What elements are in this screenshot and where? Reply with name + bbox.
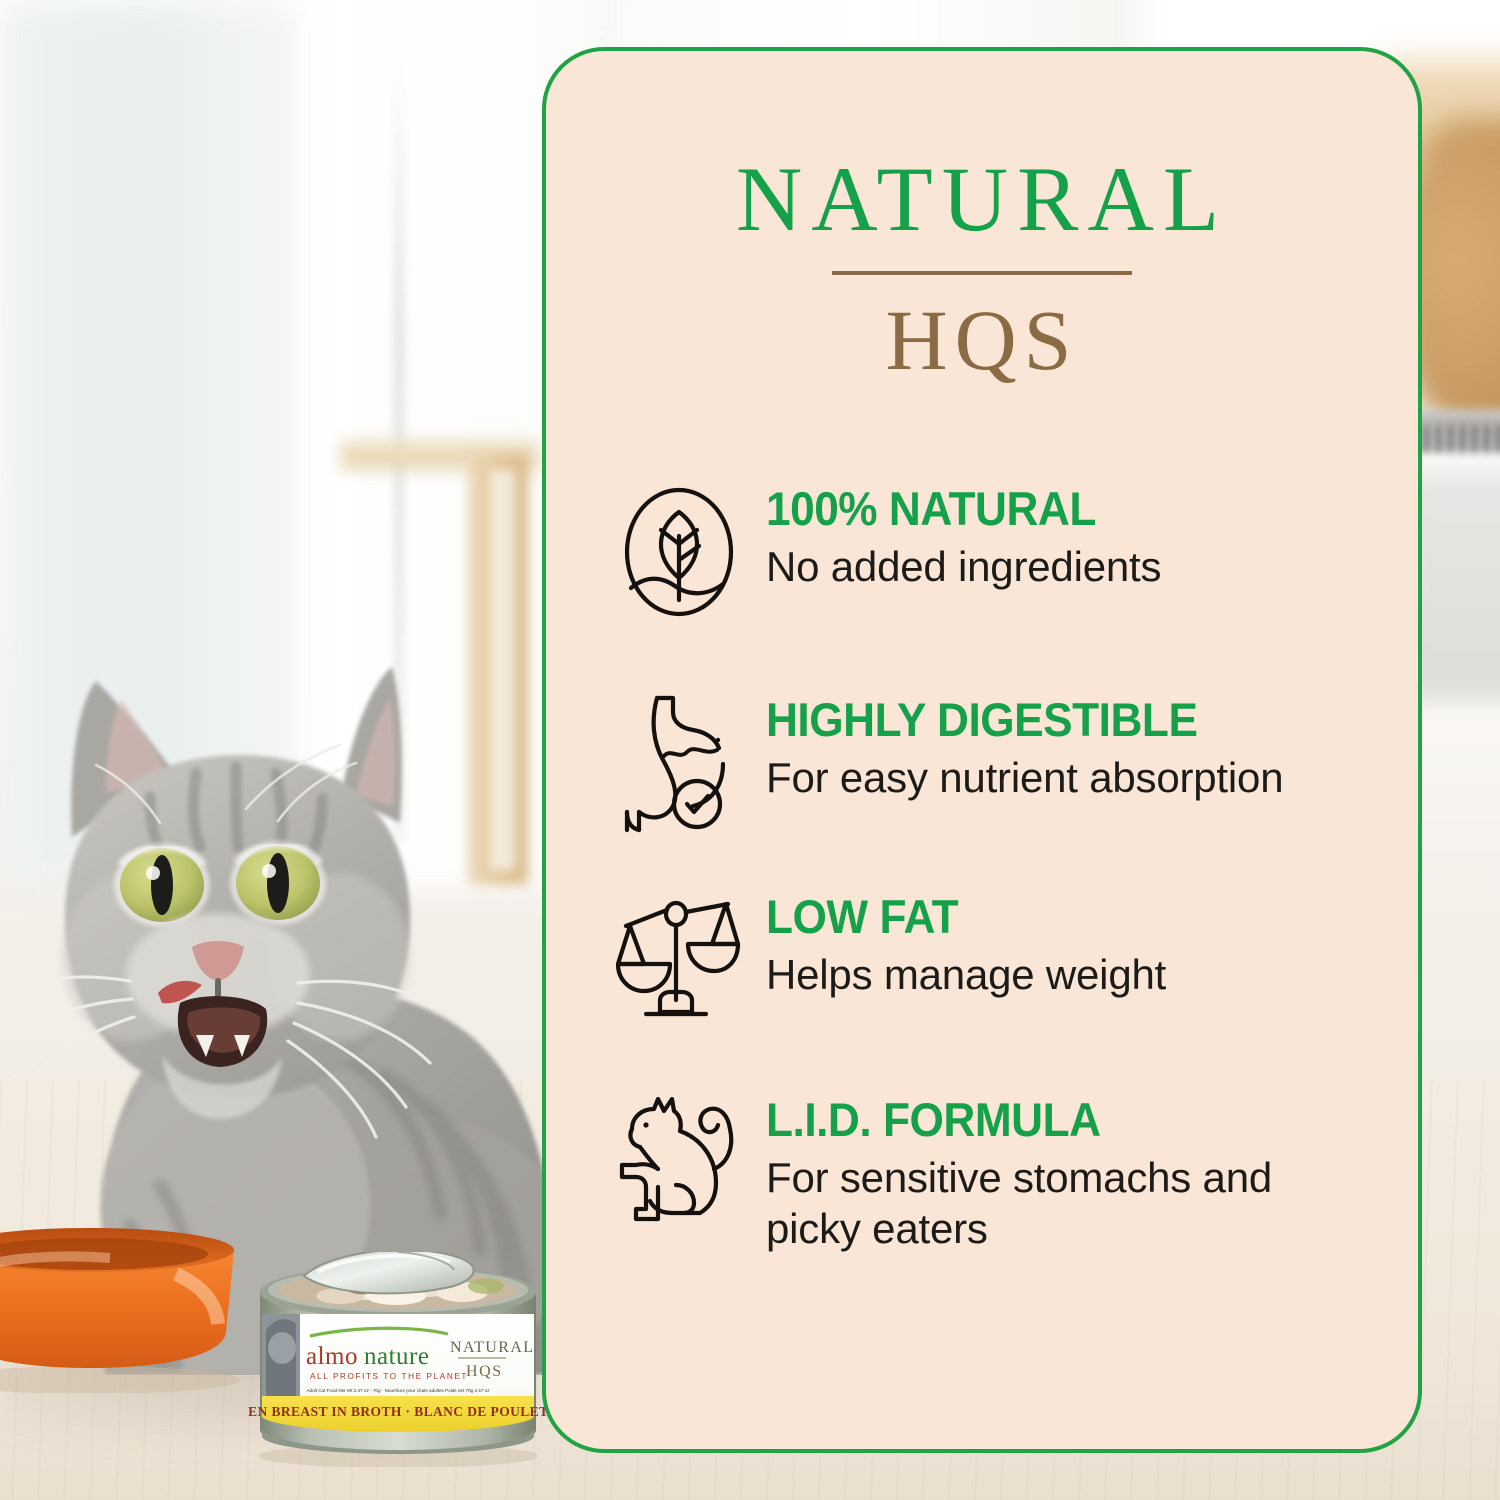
feature-item-digestible: HIGHLY DIGESTIBLE For easy nutrient abso… [546,690,1418,835]
feature-list: 100% NATURAL No added ingredients [546,479,1418,1254]
svg-text:NATURAL: NATURAL [450,1339,534,1356]
leaf-in-circle-icon [604,479,754,624]
svg-text:CHICKEN BREAST IN BROTH · BLAN: CHICKEN BREAST IN BROTH · BLANC DE POULE… [248,1404,548,1419]
feature-item-lowfat: LOW FAT Helps manage weight [546,887,1418,1032]
feature-title: LOW FAT [766,893,1334,941]
feature-text: 100% NATURAL No added ingredients [754,479,1370,592]
product-infographic: almo nature ALL PROFITS TO THE PLANET NA… [0,0,1500,1500]
brand-natural-title: NATURAL [546,153,1418,245]
info-card: NATURAL HQS [542,47,1422,1453]
feature-title: L.I.D. FORMULA [766,1096,1334,1144]
svg-text:ALL PROFITS TO THE PLANET: ALL PROFITS TO THE PLANET [310,1372,468,1381]
feature-title: 100% NATURAL [766,485,1334,533]
svg-text:HQS: HQS [466,1363,503,1380]
feature-text: L.I.D. FORMULA For sensitive stomachs an… [754,1090,1370,1254]
svg-text:almo: almo [306,1343,358,1370]
brand-hqs-title: HQS [546,297,1418,383]
feature-item-lid-formula: L.I.D. FORMULA For sensitive stomachs an… [546,1090,1418,1254]
svg-text:nature: nature [364,1343,429,1370]
brand-block: NATURAL HQS [546,51,1418,383]
cat-food-can: almo nature ALL PROFITS TO THE PLANET NA… [248,1252,548,1467]
feature-subtitle: For easy nutrient absorption [766,752,1370,803]
feature-text: HIGHLY DIGESTIBLE For easy nutrient abso… [754,690,1370,803]
feature-title: HIGHLY DIGESTIBLE [766,696,1334,744]
feature-text: LOW FAT Helps manage weight [754,887,1370,1000]
brand-divider [832,271,1132,275]
feature-item-natural: 100% NATURAL No added ingredients [546,479,1418,624]
balance-scale-icon [604,887,754,1032]
stomach-check-icon [604,690,754,835]
feature-subtitle: Helps manage weight [766,949,1370,1000]
orange-cat-bowl [0,1228,250,1393]
sitting-cat-icon [604,1090,754,1235]
feature-subtitle: No added ingredients [766,541,1370,592]
svg-text:Adult Cat Food Net Wt 2.47 oz: Adult Cat Food Net Wt 2.47 oz - 70g · No… [306,1388,490,1393]
feature-subtitle: For sensitive stomachs and picky eaters [766,1152,1370,1254]
